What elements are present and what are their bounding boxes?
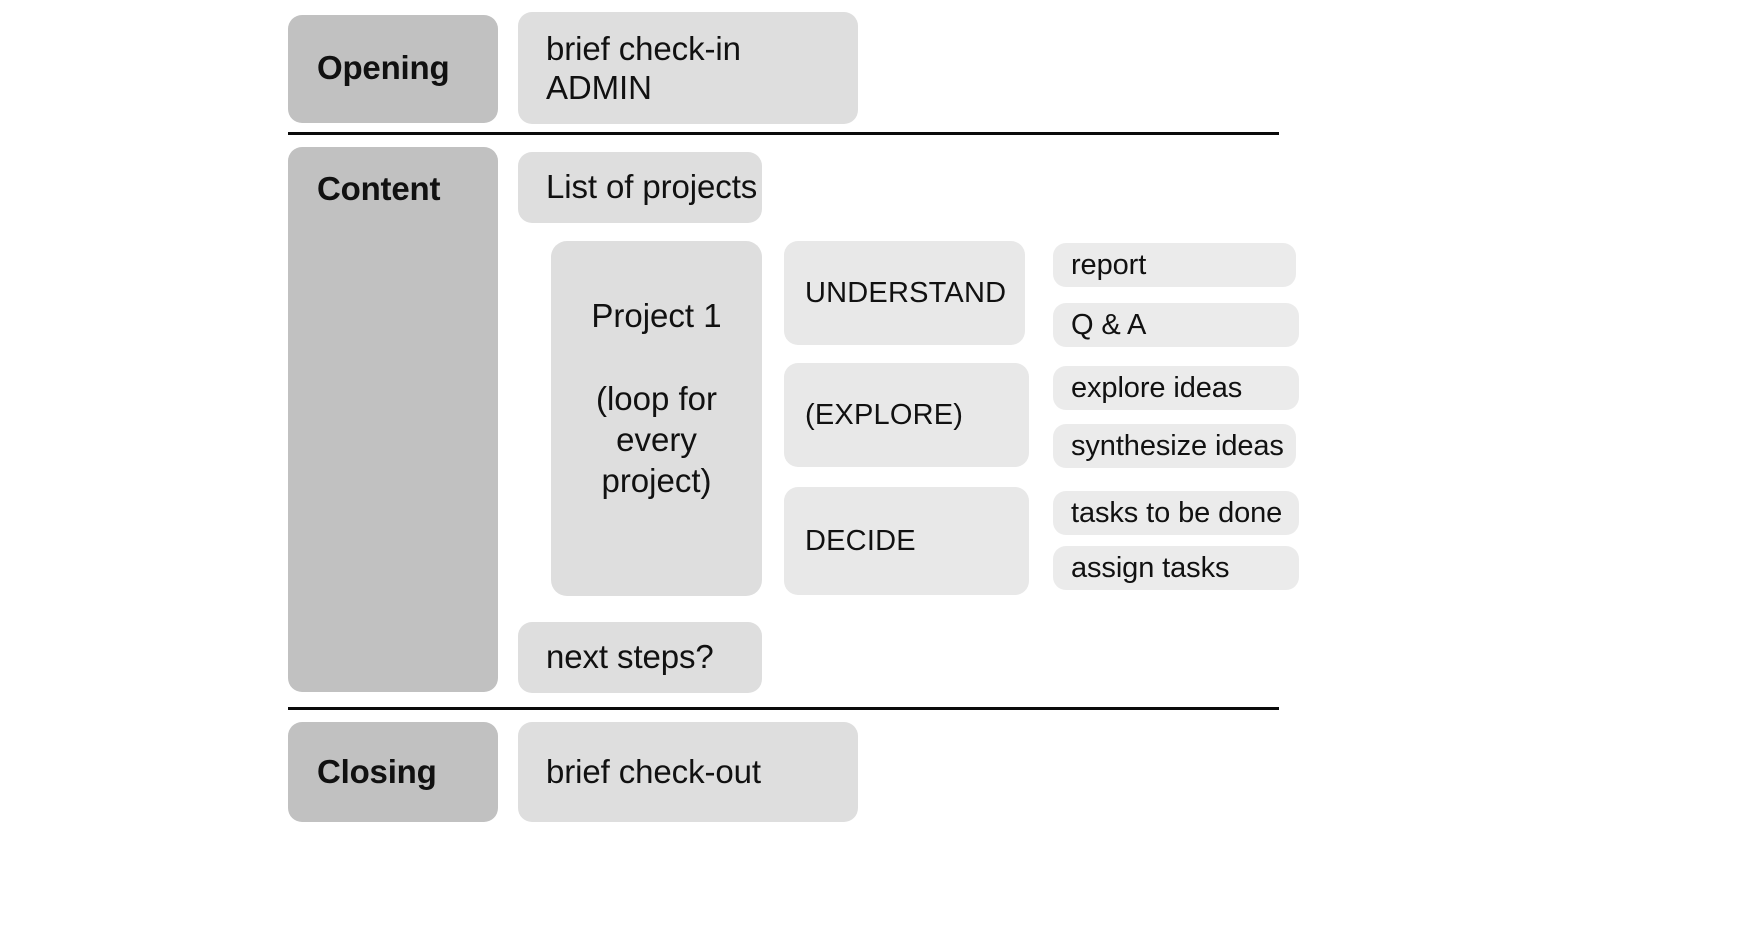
project-loop-subtitle: (loop for every project) xyxy=(596,378,717,502)
content-item-next-steps-text: next steps? xyxy=(546,638,714,677)
phase-card-understand: UNDERSTAND xyxy=(784,241,1025,345)
output-pill-tasks-to-be-done: tasks to be done xyxy=(1053,491,1299,535)
output-pill-report: report xyxy=(1053,243,1296,287)
section-label-opening-text: Opening xyxy=(317,49,449,88)
content-item-next-steps: next steps? xyxy=(518,622,762,693)
section-label-opening: Opening xyxy=(288,15,498,123)
output-pill-explore-ideas: explore ideas xyxy=(1053,366,1299,410)
output-pill-explore-ideas-text: explore ideas xyxy=(1071,371,1242,405)
output-pill-synthesize-ideas: synthesize ideas xyxy=(1053,424,1296,468)
section-label-closing-text: Closing xyxy=(317,753,437,792)
divider-opening-content xyxy=(288,132,1279,135)
phase-label-explore: (EXPLORE) xyxy=(805,398,963,432)
agenda-diagram: Opening brief check-in ADMIN Content Lis… xyxy=(0,0,1748,936)
closing-item-brief-check-out-text: brief check-out xyxy=(546,753,761,792)
divider-content-closing xyxy=(288,707,1279,710)
output-pill-report-text: report xyxy=(1071,248,1146,282)
opening-item-brief-check-in-text: brief check-in ADMIN xyxy=(546,30,741,108)
content-item-list-of-projects: List of projects xyxy=(518,152,762,223)
output-pill-assign-tasks-text: assign tasks xyxy=(1071,551,1229,585)
section-label-content-text: Content xyxy=(317,170,440,209)
output-pill-assign-tasks: assign tasks xyxy=(1053,546,1299,590)
output-pill-q-and-a: Q & A xyxy=(1053,303,1299,347)
content-item-list-of-projects-text: List of projects xyxy=(546,168,757,207)
output-pill-tasks-to-be-done-text: tasks to be done xyxy=(1071,496,1282,530)
phase-label-decide: DECIDE xyxy=(805,524,916,558)
opening-item-brief-check-in: brief check-in ADMIN xyxy=(518,12,858,124)
phase-label-understand: UNDERSTAND xyxy=(805,276,1006,310)
output-pill-q-and-a-text: Q & A xyxy=(1071,308,1146,342)
project-loop-title: Project 1 xyxy=(591,297,721,336)
section-label-closing: Closing xyxy=(288,722,498,822)
section-label-content: Content xyxy=(288,147,498,692)
phase-card-explore: (EXPLORE) xyxy=(784,363,1029,467)
phase-card-decide: DECIDE xyxy=(784,487,1029,595)
project-loop-card: Project 1 (loop for every project) xyxy=(551,241,762,596)
closing-item-brief-check-out: brief check-out xyxy=(518,722,858,822)
output-pill-synthesize-ideas-text: synthesize ideas xyxy=(1071,429,1284,463)
